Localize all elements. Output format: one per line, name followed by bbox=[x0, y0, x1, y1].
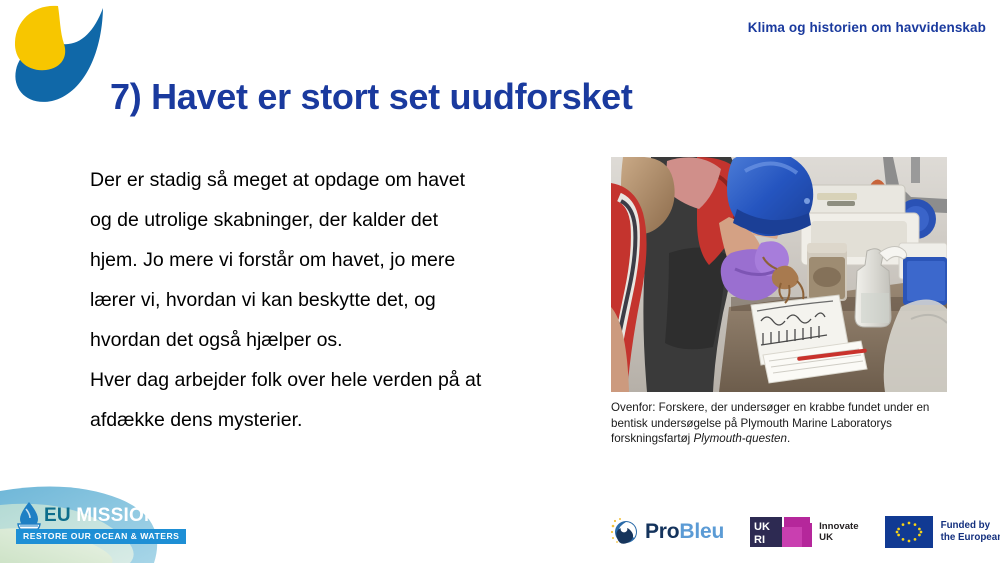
caption-vessel-name: Plymouth-questen bbox=[693, 432, 786, 445]
ukri-innovate-uk-logo: UK RI Innovate UK bbox=[750, 515, 858, 549]
body-line: hjem. Jo mere vi forstår om havet, jo me… bbox=[90, 240, 560, 280]
body-line: hvordan det også hjælper os. bbox=[90, 320, 560, 360]
research-photo bbox=[611, 157, 947, 392]
probleu-bleu: Bleu bbox=[679, 520, 724, 543]
body-line: og de utrolige skabninger, der kalder de… bbox=[90, 200, 560, 240]
logo-yellow-shape bbox=[15, 6, 65, 70]
svg-text:RI: RI bbox=[754, 534, 765, 546]
eu-funding-text: Funded by the European Union bbox=[941, 520, 1000, 544]
eu-missions-tagline: RESTORE OUR OCEAN & WATERS bbox=[16, 529, 186, 544]
eu-flag-icon bbox=[885, 516, 933, 548]
probleu-logo: ProBleu bbox=[610, 517, 724, 547]
eu-missions-eu: EU bbox=[44, 505, 71, 526]
body-line: afdække dens mysterier. bbox=[90, 400, 560, 440]
ukri-mark-icon: UK RI bbox=[750, 515, 812, 549]
caption-text-end: . bbox=[787, 432, 790, 445]
eu-missions-missions: MISSIONS bbox=[71, 505, 171, 526]
footer-logo-strip: ProBleu UK RI Innovate UK bbox=[610, 509, 1000, 555]
ocean-leaf-logo bbox=[6, 2, 110, 106]
body-text: Der er stadig så meget at opdage om have… bbox=[90, 160, 560, 440]
eu-funding-line1: Funded by bbox=[941, 520, 1000, 532]
eu-missions-badge: EU MISSIONS RESTORE OUR OCEAN & WATERS bbox=[0, 485, 196, 563]
innovate-uk-text: Innovate UK bbox=[819, 521, 858, 544]
slide-kicker: Klima og historien om havvidenskab bbox=[748, 20, 986, 35]
svg-text:UK: UK bbox=[754, 521, 770, 533]
innovate-uk-line2: UK bbox=[819, 532, 858, 544]
eu-missions-wordmark: EU MISSIONS bbox=[44, 505, 171, 527]
body-line: Hver dag arbejder folk over hele verden … bbox=[90, 360, 560, 400]
eu-funding-line2: the European Union bbox=[941, 532, 1000, 544]
innovate-uk-line1: Innovate bbox=[819, 521, 858, 533]
body-line: lærer vi, hvordan vi kan beskytte det, o… bbox=[90, 280, 560, 320]
probleu-pro: Pro bbox=[645, 520, 679, 543]
photo-caption: Ovenfor: Forskere, der undersøger en kra… bbox=[611, 400, 953, 447]
probleu-wordmark: ProBleu bbox=[645, 520, 724, 544]
page-title: 7) Havet er stort set uudforsket bbox=[110, 76, 633, 118]
eu-funding-logo: Funded by the European Union bbox=[885, 516, 1000, 548]
probleu-swirl-icon bbox=[610, 517, 640, 547]
body-line: Der er stadig så meget at opdage om have… bbox=[90, 160, 560, 200]
